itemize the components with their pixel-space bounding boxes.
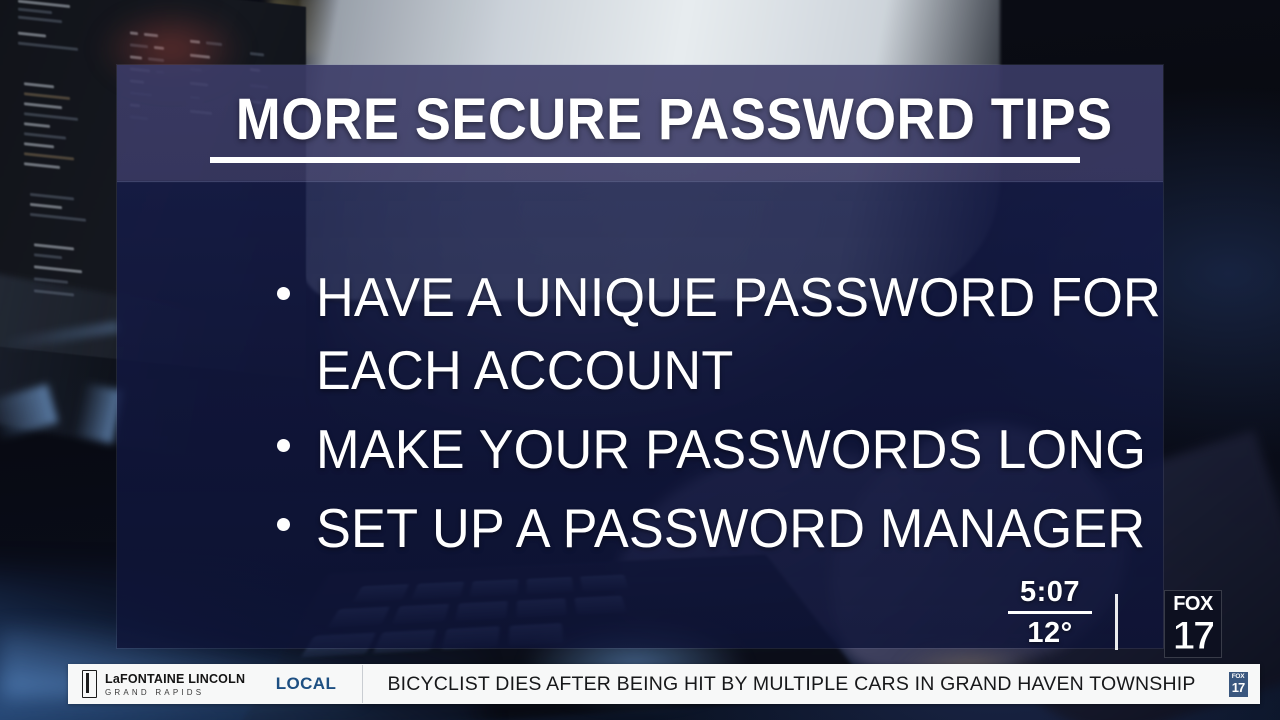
news-ticker: LaFONTAINE LINCOLN GRAND RAPIDS LOCAL BI… xyxy=(68,664,1260,704)
ticker-headline[interactable]: BICYCLIST DIES AFTER BEING HIT BY MULTIP… xyxy=(363,673,1216,696)
bullet-text: SET UP A PASSWORD MANAGER xyxy=(316,492,1145,565)
lincoln-emblem-icon xyxy=(82,670,97,698)
list-item: MAKE YOUR PASSWORDS LONG xyxy=(277,413,1267,486)
bullet-text: HAVE A UNIQUE PASSWORD FOR EACH ACCOUNT xyxy=(316,261,1219,407)
broadcast-screen: MORE SECURE PASSWORD TIPS HAVE A UNIQUE … xyxy=(0,0,1280,720)
bug-vertical-divider xyxy=(1115,594,1118,650)
station-logo-fox-text: FOX xyxy=(1173,594,1213,615)
time-temperature-block: 5:07 12° xyxy=(1008,577,1092,648)
sponsor-name: LaFONTAINE LINCOLN xyxy=(105,672,245,686)
panel-header-divider xyxy=(117,181,1163,182)
graphic-title-block: MORE SECURE PASSWORD TIPS xyxy=(205,89,1085,163)
bullet-dot-icon xyxy=(277,287,290,300)
list-item: HAVE A UNIQUE PASSWORD FOR EACH ACCOUNT xyxy=(277,261,1267,407)
ticker-station-logo-box: FOX 17 xyxy=(1229,672,1248,697)
title-underline xyxy=(210,157,1080,163)
sponsor-logo[interactable]: LaFONTAINE LINCOLN GRAND RAPIDS xyxy=(68,670,250,698)
sponsor-location: GRAND RAPIDS xyxy=(105,689,245,697)
ticker-station-number: 17 xyxy=(1232,681,1244,694)
ticker-category-label: LOCAL xyxy=(250,674,362,694)
clock-readout: 5:07 xyxy=(1008,577,1092,607)
fullscreen-graphic-panel: MORE SECURE PASSWORD TIPS HAVE A UNIQUE … xyxy=(117,65,1163,648)
bullet-dot-icon xyxy=(277,518,290,531)
list-item: SET UP A PASSWORD MANAGER xyxy=(277,492,1267,565)
sponsor-logo-text: LaFONTAINE LINCOLN GRAND RAPIDS xyxy=(105,671,245,697)
bullet-text: MAKE YOUR PASSWORDS LONG xyxy=(316,413,1146,486)
ticker-station-bug: FOX 17 xyxy=(1216,672,1260,697)
temperature-readout: 12° xyxy=(1008,618,1092,648)
page-title: MORE SECURE PASSWORD TIPS xyxy=(236,89,1054,151)
time-temp-divider xyxy=(1008,611,1092,614)
station-logo-bug: FOX 17 xyxy=(1164,590,1222,658)
graphic-bullet-list: HAVE A UNIQUE PASSWORD FOR EACH ACCOUNT … xyxy=(277,261,1267,571)
bullet-dot-icon xyxy=(277,439,290,452)
station-logo-number: 17 xyxy=(1173,616,1214,656)
